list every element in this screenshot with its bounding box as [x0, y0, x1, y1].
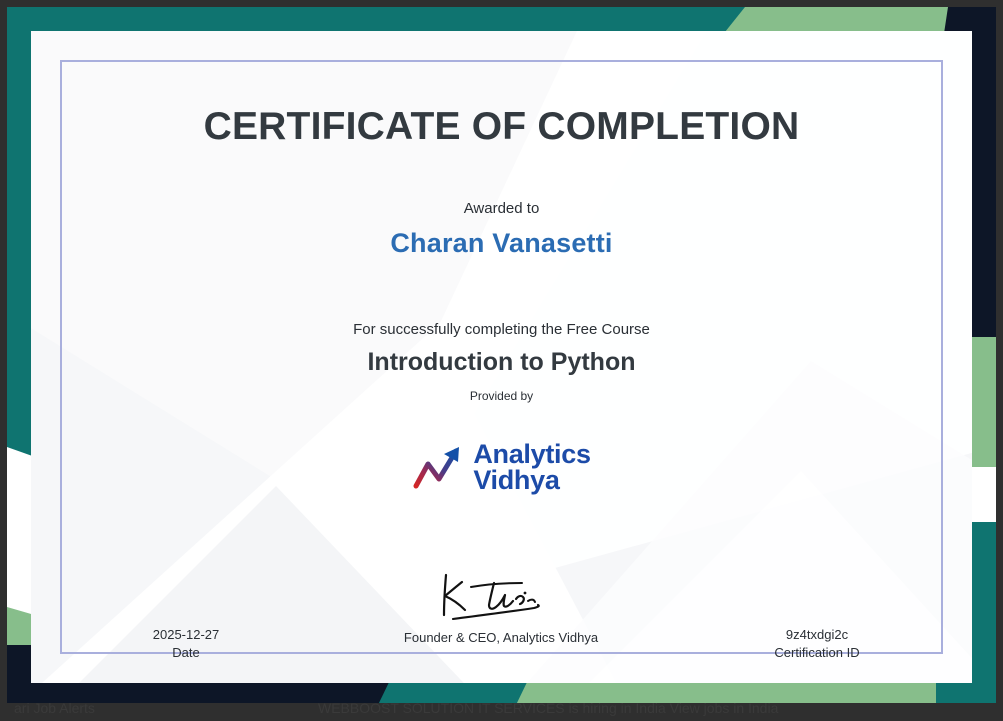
date-label: Date — [76, 645, 296, 660]
certificate-card: CERTIFICATE OF COMPLETION Awarded to Cha… — [7, 7, 996, 707]
certificate-title: CERTIFICATE OF COMPLETION — [31, 105, 972, 149]
certification-id-label: Certification ID — [707, 645, 927, 660]
browser-background-strip-top — [0, 0, 1003, 7]
screen: CERTIFICATE OF COMPLETION Awarded to Cha… — [0, 0, 1003, 721]
browser-background-text-row: ari Job Alerts WEBBOOST SOLUTION IT SERV… — [0, 703, 1003, 721]
course-prefix-text: For successfully completing the Free Cou… — [31, 321, 972, 338]
recipient-name: Charan Vanasetti — [31, 228, 972, 259]
course-name: Introduction to Python — [31, 348, 972, 377]
certificate-paper: CERTIFICATE OF COMPLETION Awarded to Cha… — [31, 31, 972, 683]
logo-wordmark-line2: Vidhya — [473, 465, 559, 495]
awarded-to-label: Awarded to — [31, 200, 972, 217]
provided-by-label: Provided by — [31, 389, 972, 403]
certification-id-value: 9z4txdgi2c — [707, 627, 927, 642]
logo-wordmark: Analytics Vidhya — [473, 441, 590, 494]
certificate-content: CERTIFICATE OF COMPLETION Awarded to Cha… — [31, 31, 972, 683]
date-value: 2025-12-27 — [76, 627, 296, 642]
handwritten-signature-icon — [361, 571, 641, 626]
certification-id-block: 9z4txdgi2c Certification ID — [707, 627, 927, 660]
background-text-fragment-right: WEBBOOST SOLUTION IT SERVICES is hiring … — [318, 703, 778, 716]
upward-trend-arrow-icon — [412, 442, 464, 492]
analytics-vidhya-logo: Analytics Vidhya — [31, 441, 972, 494]
signature-caption: Founder & CEO, Analytics Vidhya — [361, 630, 641, 645]
date-block: 2025-12-27 Date — [76, 627, 296, 660]
background-text-fragment-left: ari Job Alerts — [14, 703, 95, 716]
signature-block: Founder & CEO, Analytics Vidhya — [361, 571, 641, 645]
